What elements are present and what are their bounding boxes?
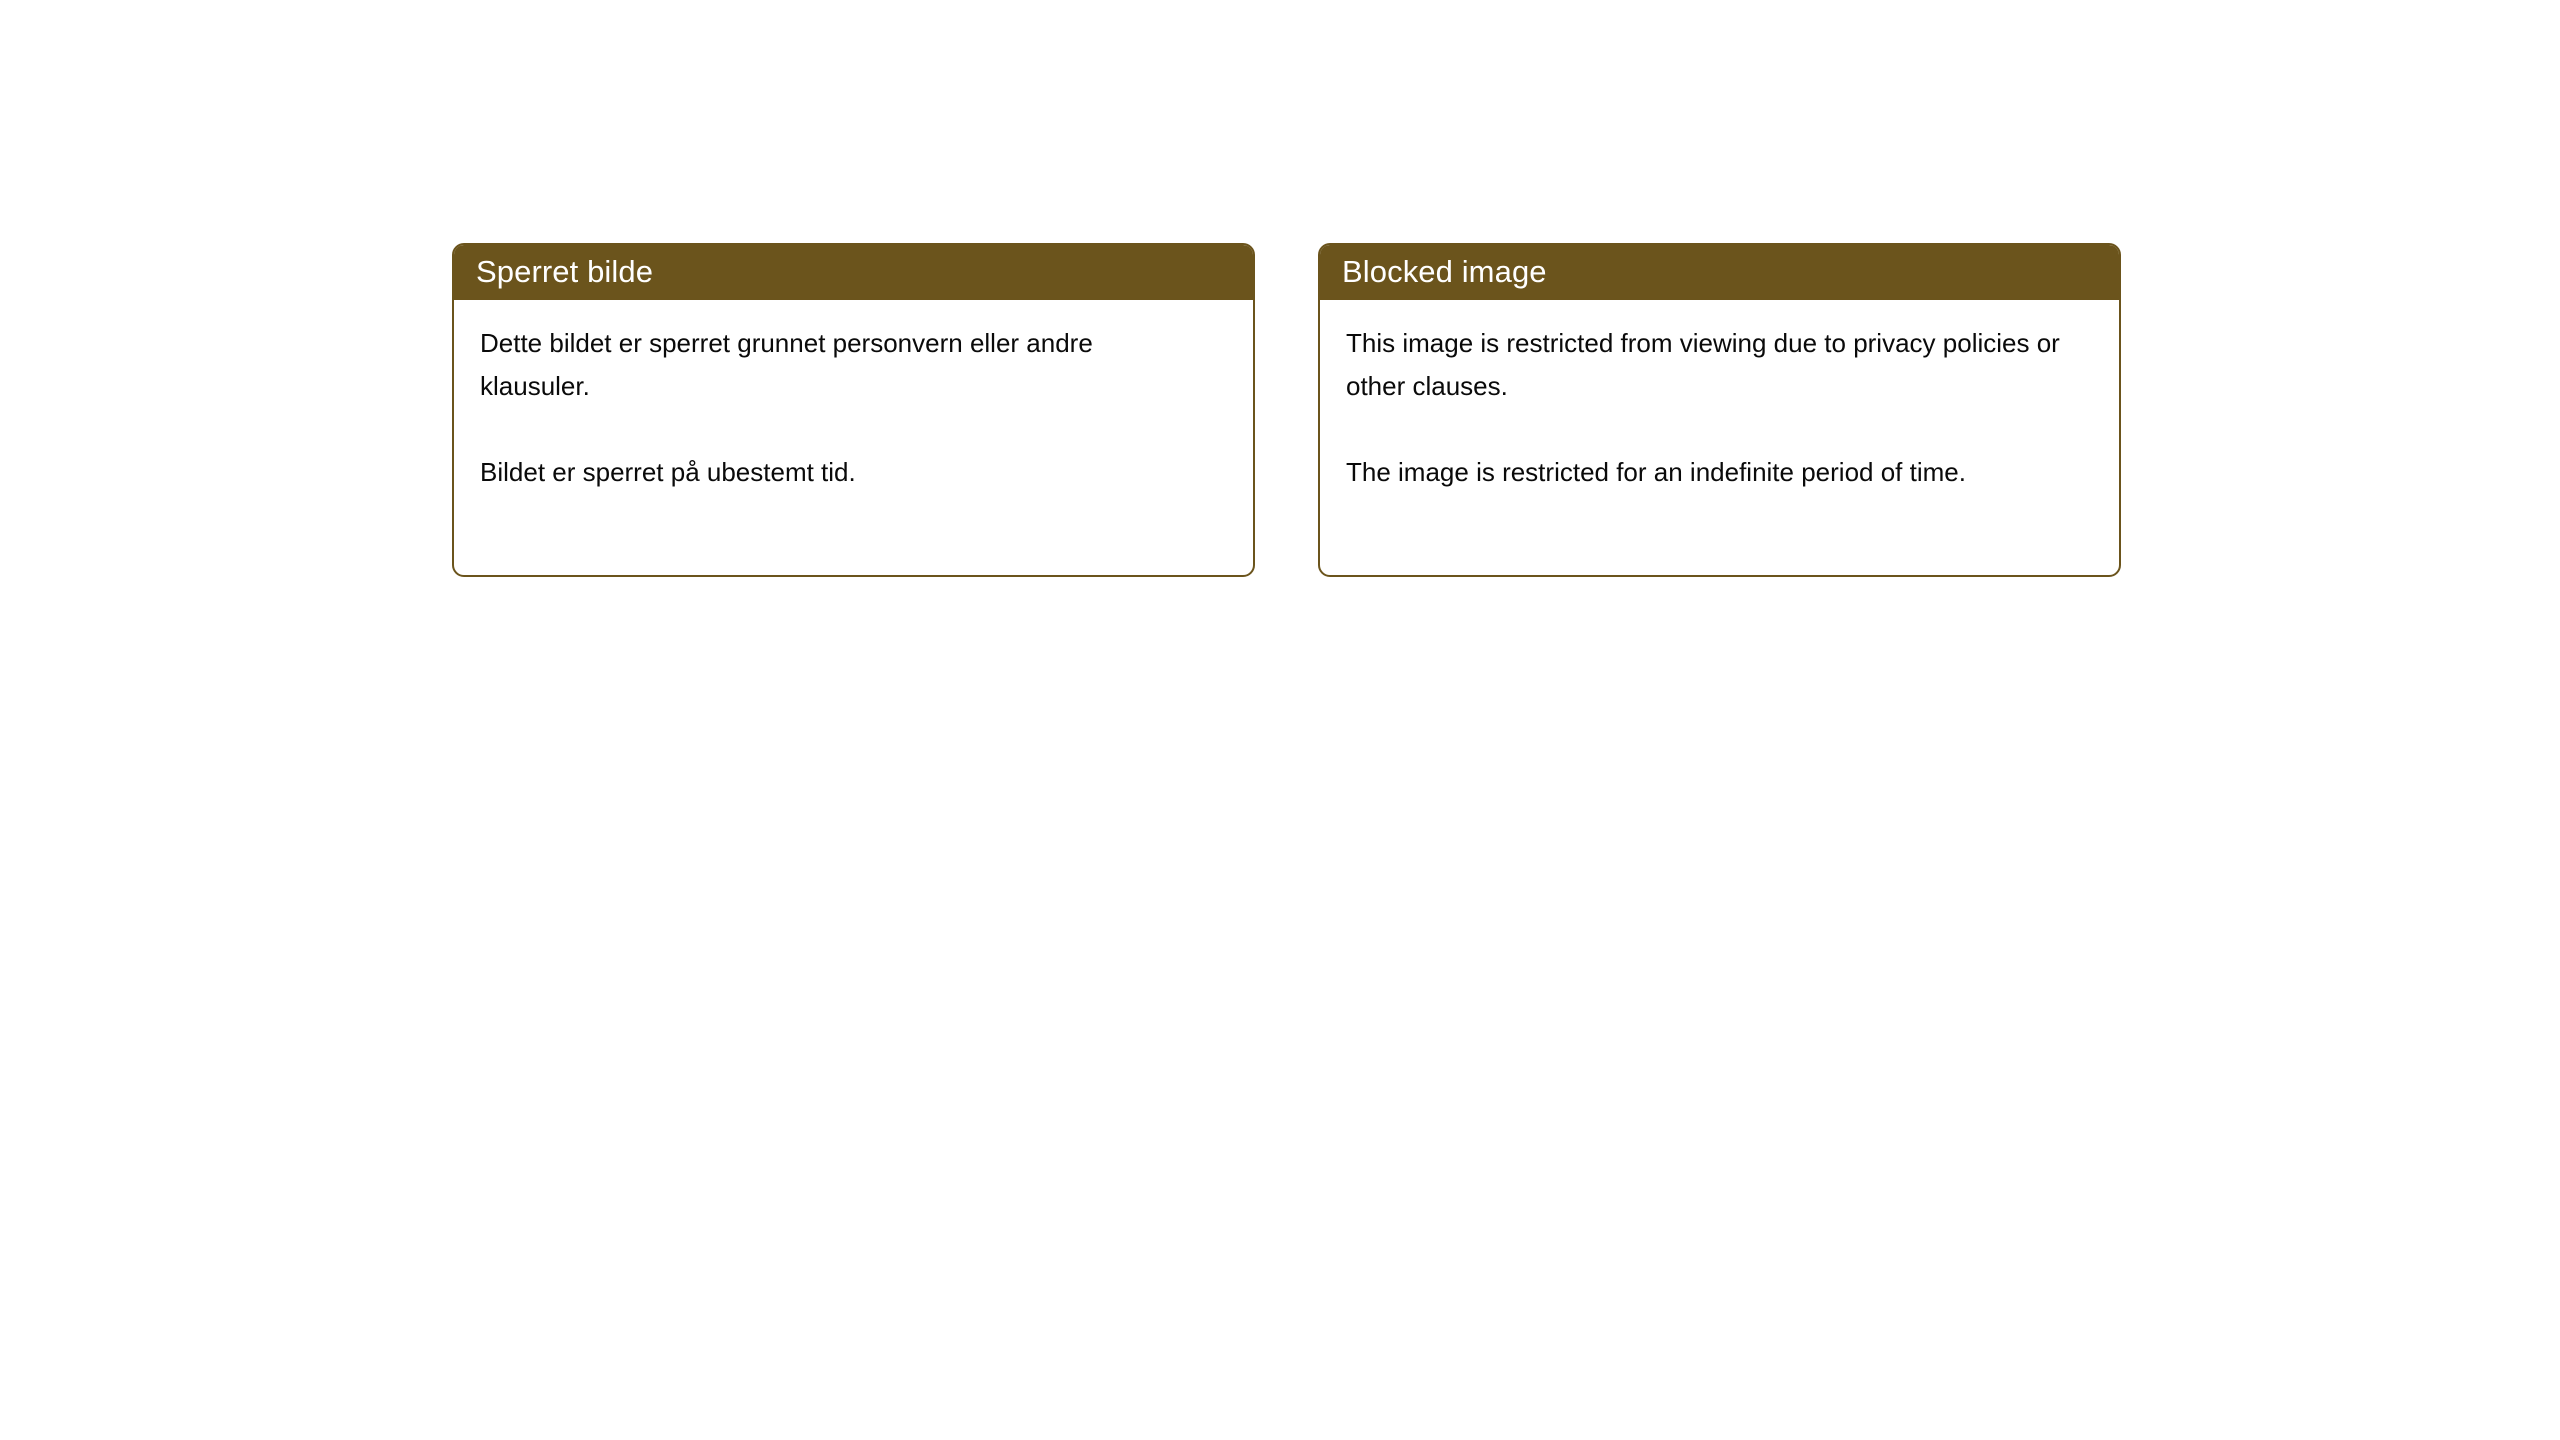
blocked-image-card-norwegian: Sperret bilde Dette bildet er sperret gr… <box>452 243 1255 577</box>
blocked-image-notice-group: Sperret bilde Dette bildet er sperret gr… <box>452 243 2121 577</box>
card-body-english: This image is restricted from viewing du… <box>1320 300 2119 575</box>
card-title-norwegian: Sperret bilde <box>476 253 653 291</box>
blocked-image-card-english: Blocked image This image is restricted f… <box>1318 243 2121 577</box>
card-paragraph-duration-norwegian: Bildet er sperret på ubestemt tid. <box>480 451 1200 494</box>
card-header-norwegian: Sperret bilde <box>452 243 1255 300</box>
card-paragraph-duration-english: The image is restricted for an indefinit… <box>1346 451 2066 494</box>
card-body-norwegian: Dette bildet er sperret grunnet personve… <box>454 300 1253 575</box>
card-title-english: Blocked image <box>1342 253 1547 291</box>
card-paragraph-reason-english: This image is restricted from viewing du… <box>1346 322 2066 408</box>
card-header-english: Blocked image <box>1318 243 2121 300</box>
card-paragraph-reason-norwegian: Dette bildet er sperret grunnet personve… <box>480 322 1200 408</box>
